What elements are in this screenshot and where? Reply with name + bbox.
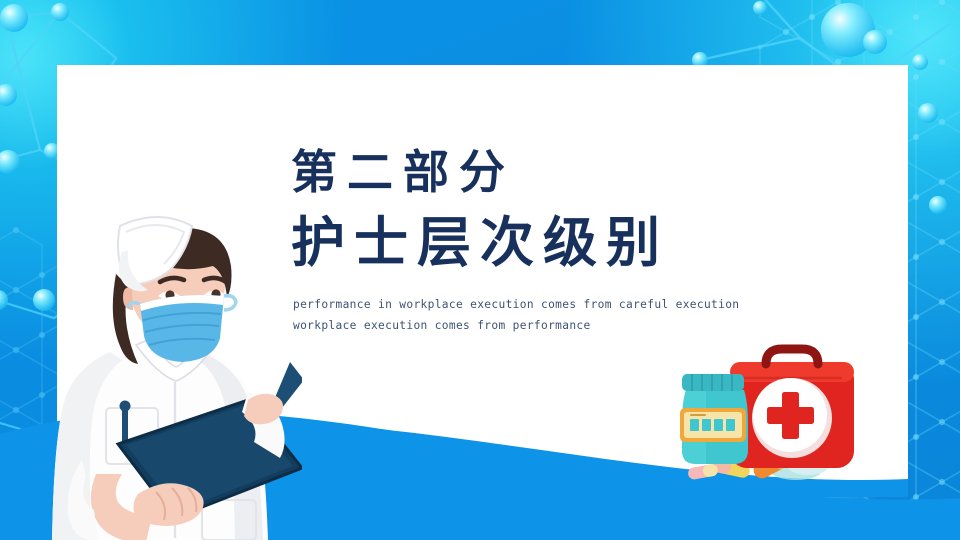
title-text-group: 第二部分 护士层次级别 performance in workplace exe… — [291, 148, 851, 337]
subtitle-line-2: workplace execution comes from performan… — [293, 316, 851, 337]
subtitle-group: performance in workplace execution comes… — [293, 295, 851, 336]
subtitle-line-1: performance in workplace execution comes… — [293, 295, 851, 316]
nurse-illustration — [52, 212, 302, 540]
section-main-title: 护士层次级别 — [291, 213, 851, 273]
section-number-title: 第二部分 — [291, 148, 851, 197]
presentation-slide: 第二部分 护士层次级别 performance in workplace exe… — [0, 0, 960, 540]
